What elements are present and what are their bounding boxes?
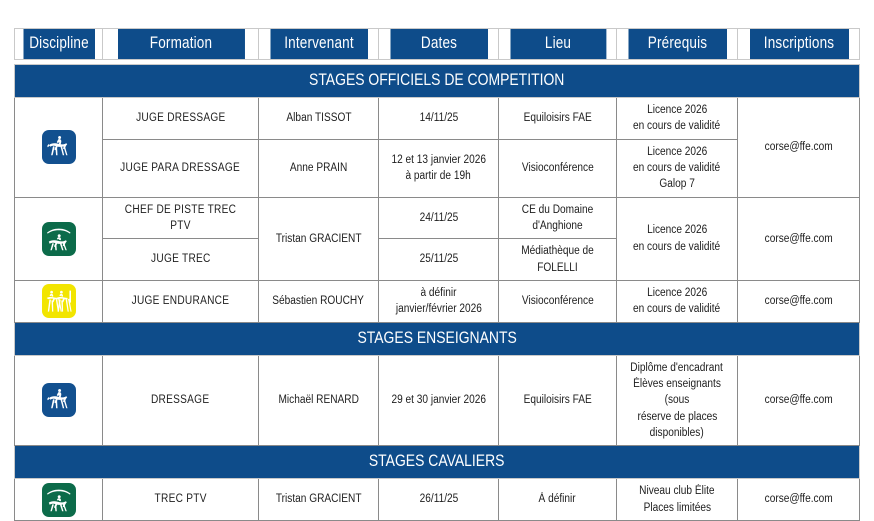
table-row: CHEF DE PISTE TREC PTVTristan GRACIENT24…	[15, 197, 860, 239]
table-row: JUGE DRESSAGEAlban TISSOT14/11/25Equiloi…	[15, 98, 860, 140]
dates-cell: 24/11/25	[379, 197, 499, 239]
section-title-text: STAGES ENSEIGNANTS	[357, 328, 516, 348]
prerequis-cell: Licence 2026en cours de validité	[617, 197, 738, 280]
discipline-cell	[15, 355, 103, 446]
column-header-label: Discipline	[29, 34, 89, 52]
formation-cell: JUGE ENDURANCE	[103, 280, 259, 322]
inscriptions-cell[interactable]: corse@ffe.com	[738, 355, 860, 446]
column-header-inscriptions: Inscriptions	[748, 29, 848, 60]
column-header-intervenant: Intervenant	[269, 29, 367, 60]
section-title-text: STAGES CAVALIERS	[369, 451, 505, 471]
section-banner-row: STAGES ENSEIGNANTS	[15, 322, 860, 355]
prerequis-cell: Licence 2026en cours de validité	[617, 98, 738, 140]
endurance-riders-icon	[42, 284, 76, 318]
formation-cell: DRESSAGE	[103, 355, 259, 446]
section-title: STAGES CAVALIERS	[15, 446, 860, 479]
table-header-row: DisciplineFormationIntervenantDatesLieuP…	[15, 29, 860, 60]
column-header-label: Inscriptions	[763, 34, 833, 52]
trec-horse-icon	[42, 483, 76, 517]
table-row: JUGE ENDURANCESébastien ROUCHYà définirj…	[15, 280, 860, 322]
column-header-dates: Dates	[389, 29, 487, 60]
prerequis-cell: Licence 2026en cours de validitéGalop 7	[617, 139, 738, 197]
column-header-lieu: Lieu	[509, 29, 606, 60]
section-title: STAGES ENSEIGNANTS	[15, 322, 860, 355]
prerequis-cell: Licence 2026en cours de validité	[617, 280, 738, 322]
inscriptions-cell[interactable]: corse@ffe.com	[738, 197, 860, 280]
formation-cell: JUGE DRESSAGE	[103, 98, 259, 140]
dates-cell: 25/11/25	[379, 239, 499, 281]
dates-cell: 29 et 30 janvier 2026	[379, 355, 499, 446]
column-header-label: Formation	[149, 34, 211, 52]
column-header-discipline: Discipline	[22, 29, 94, 60]
dates-cell: à définirjanvier/février 2026	[379, 280, 499, 322]
prerequis-cell: Niveau club ÉlitePlaces limitées	[617, 479, 738, 521]
column-header-formation: Formation	[117, 29, 245, 60]
discipline-cell	[15, 280, 103, 322]
column-header-label: Intervenant	[284, 34, 354, 52]
lieu-cell: À définir	[499, 479, 617, 521]
discipline-cell	[15, 197, 103, 280]
dates-cell: 14/11/25	[379, 98, 499, 140]
section-banner-row: STAGES CAVALIERS	[15, 446, 860, 479]
lieu-cell: Equiloisirs FAE	[499, 98, 617, 140]
prerequis-cell: Diplôme d'encadrantÉlèves enseignants (s…	[617, 355, 738, 446]
intervenant-cell: Tristan GRACIENT	[259, 479, 379, 521]
stage-schedule-page: DisciplineFormationIntervenantDatesLieuP…	[0, 0, 874, 520]
lieu-cell: Equiloisirs FAE	[499, 355, 617, 446]
discipline-cell	[15, 98, 103, 198]
lieu-cell: CE du Domaine d'Anghione	[499, 197, 617, 239]
table-row: TREC PTVTristan GRACIENT26/11/25À défini…	[15, 479, 860, 521]
column-header-prerequis: Prérequis	[627, 29, 726, 60]
training-schedule-table: DisciplineFormationIntervenantDatesLieuP…	[14, 28, 860, 521]
formation-cell: JUGE TREC	[103, 239, 259, 281]
intervenant-cell: Sébastien ROUCHY	[259, 280, 379, 322]
inscriptions-cell[interactable]: corse@ffe.com	[738, 98, 860, 198]
formation-cell: JUGE PARA DRESSAGE	[103, 139, 259, 197]
inscriptions-cell[interactable]: corse@ffe.com	[738, 479, 860, 521]
intervenant-cell: Tristan GRACIENT	[259, 197, 379, 280]
dressage-horse-icon	[42, 383, 76, 417]
table-row: JUGE PARA DRESSAGEAnne PRAIN12 et 13 jan…	[15, 139, 860, 197]
intervenant-cell: Michaël RENARD	[259, 355, 379, 446]
intervenant-cell: Anne PRAIN	[259, 139, 379, 197]
discipline-cell	[15, 479, 103, 521]
dressage-horse-icon	[42, 130, 76, 164]
section-banner-row: STAGES OFFICIELS DE COMPETITION	[15, 65, 860, 98]
formation-cell: CHEF DE PISTE TREC PTV	[103, 197, 259, 239]
column-header-label: Dates	[420, 34, 456, 52]
inscriptions-cell[interactable]: corse@ffe.com	[738, 280, 860, 322]
lieu-cell: Médiathèque de FOLELLI	[499, 239, 617, 281]
lieu-cell: Visioconférence	[499, 280, 617, 322]
trec-horse-icon	[42, 222, 76, 256]
intervenant-cell: Alban TISSOT	[259, 98, 379, 140]
column-header-label: Lieu	[544, 34, 570, 52]
dates-cell: 26/11/25	[379, 479, 499, 521]
section-title-text: STAGES OFFICIELS DE COMPETITION	[309, 70, 564, 90]
column-header-label: Prérequis	[647, 34, 706, 52]
table-row: DRESSAGEMichaël RENARD29 et 30 janvier 2…	[15, 355, 860, 446]
formation-cell: TREC PTV	[103, 479, 259, 521]
lieu-cell: Visioconférence	[499, 139, 617, 197]
section-title: STAGES OFFICIELS DE COMPETITION	[15, 65, 860, 98]
dates-cell: 12 et 13 janvier 2026à partir de 19h	[379, 139, 499, 197]
